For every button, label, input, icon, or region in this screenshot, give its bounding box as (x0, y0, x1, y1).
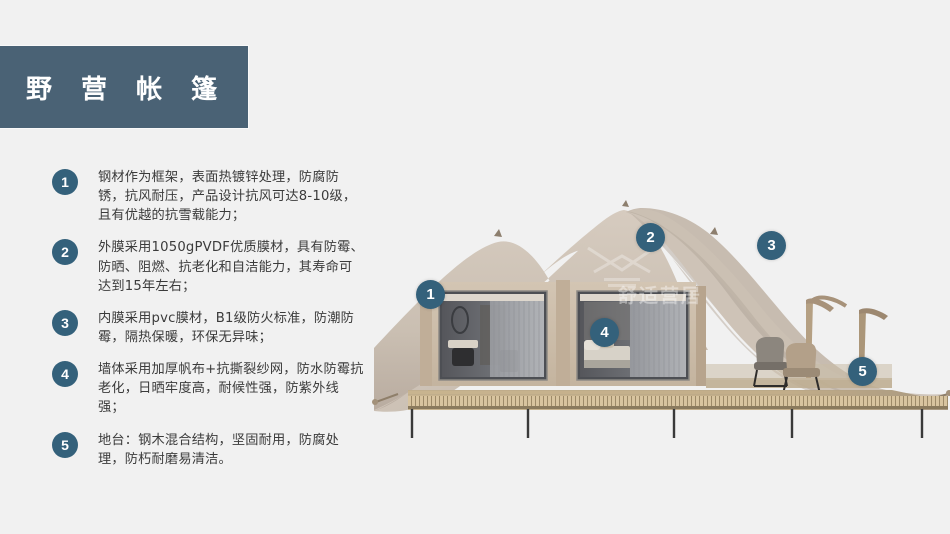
canopy-peak-tip-left (494, 229, 502, 237)
canopy-peak-tip (622, 200, 629, 207)
feature-list: 1 钢材作为框架，表面热镀锌处理，防腐防锈，抗风耐压，产品设计抗风可达8-10级… (52, 168, 364, 469)
list-item: 1 钢材作为框架，表面热镀锌处理，防腐防锈，抗风耐压，产品设计抗风可达8-10级… (52, 168, 364, 225)
tent-illustration (372, 150, 950, 440)
page-title: 野 营 帐 篷 (26, 69, 227, 106)
feature-number-badge: 4 (52, 361, 78, 387)
callout-badge-1[interactable]: 1 (416, 280, 445, 309)
feature-number-badge: 5 (52, 432, 78, 458)
feature-number-badge: 2 (52, 239, 78, 265)
window-left (439, 291, 547, 380)
canopy-peak-tip-right (710, 227, 718, 235)
slide-root: 野 营 帐 篷 1 钢材作为框架，表面热镀锌处理，防腐防锈，抗风耐压，产品设计抗… (0, 0, 950, 534)
list-item: 4 墙体采用加厚帆布+抗撕裂纱网，防水防霉抗老化，日晒牢度高，耐候性强，防紫外线… (52, 360, 364, 417)
callout-badge-5[interactable]: 5 (848, 357, 877, 386)
feature-number-badge: 3 (52, 310, 78, 336)
feature-text: 外膜采用1050gPVDF优质膜材，具有防霉、防晒、阻燃、抗老化和自洁能力，其寿… (98, 238, 364, 295)
page-title-bar: 野 营 帐 篷 (0, 46, 248, 128)
wall-corner-post-mid (556, 280, 570, 386)
callout-badge-2[interactable]: 2 (636, 223, 665, 252)
feature-text: 墙体采用加厚帆布+抗撕裂纱网，防水防霉抗老化，日晒牢度高，耐候性强，防紫外线强； (98, 360, 364, 417)
deck-plank-edge (408, 396, 948, 407)
feature-text: 地台：钢木混合结构，坚固耐用，防腐处理，防朽耐磨易清洁。 (98, 431, 364, 469)
list-item: 2 外膜采用1050gPVDF优质膜材，具有防霉、防晒、阻燃、抗老化和自洁能力，… (52, 238, 364, 295)
feature-text: 内膜采用pvc膜材，B1级防火标准，防潮防霉，隔热保暖，环保无异味； (98, 309, 364, 347)
deck-leg-group (412, 409, 922, 438)
callout-badge-3[interactable]: 3 (757, 231, 786, 260)
list-item: 3 内膜采用pvc膜材，B1级防火标准，防潮防霉，隔热保暖，环保无异味； (52, 309, 364, 347)
wall-corner-post-right (696, 286, 706, 386)
list-item: 5 地台：钢木混合结构，坚固耐用，防腐处理，防朽耐磨易清洁。 (52, 431, 364, 469)
feature-number-badge: 1 (52, 169, 78, 195)
callout-badge-4[interactable]: 4 (590, 318, 619, 347)
feature-text: 钢材作为框架，表面热镀锌处理，防腐防锈，抗风耐压，产品设计抗风可达8-10级，且… (98, 168, 364, 225)
